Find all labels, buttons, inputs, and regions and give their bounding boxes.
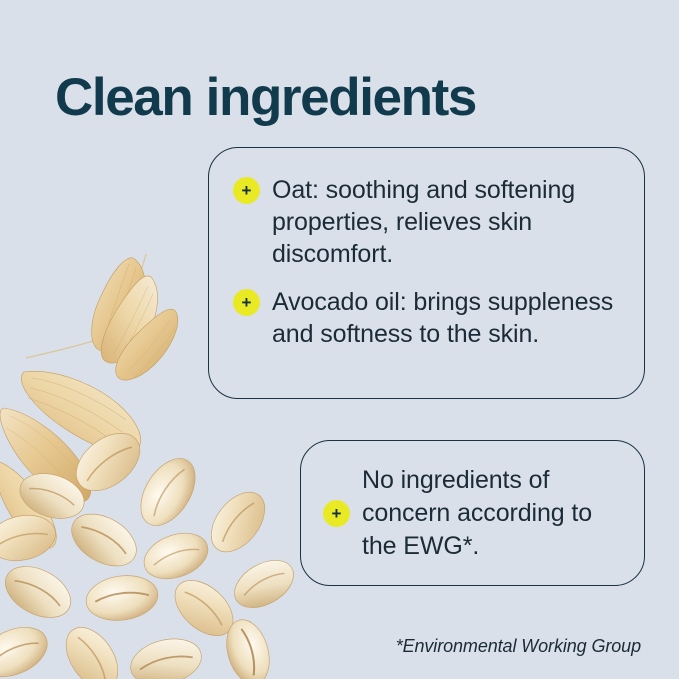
ewg-card: + No ingredients of concern according to… [300, 440, 645, 586]
list-item: + No ingredients of concern according to… [323, 464, 626, 563]
list-item-label: No ingredients of concern according to t… [362, 464, 626, 563]
footnote: *Environmental Working Group [396, 636, 641, 657]
list-item-label: Oat: soothing and softening properties, … [272, 174, 622, 270]
ingredients-card: + Oat: soothing and softening properties… [208, 147, 645, 399]
infographic-page: Clean ingredients + Oat: soothing and so… [0, 0, 679, 679]
plus-badge-icon: + [233, 289, 260, 316]
list-item: + Oat: soothing and softening properties… [233, 174, 622, 270]
list-item: + Avocado oil: brings suppleness and sof… [233, 286, 622, 350]
page-title: Clean ingredients [55, 66, 476, 130]
plus-badge-icon: + [323, 500, 350, 527]
plus-badge-icon: + [233, 177, 260, 204]
list-item-label: Avocado oil: brings suppleness and softn… [272, 286, 622, 350]
